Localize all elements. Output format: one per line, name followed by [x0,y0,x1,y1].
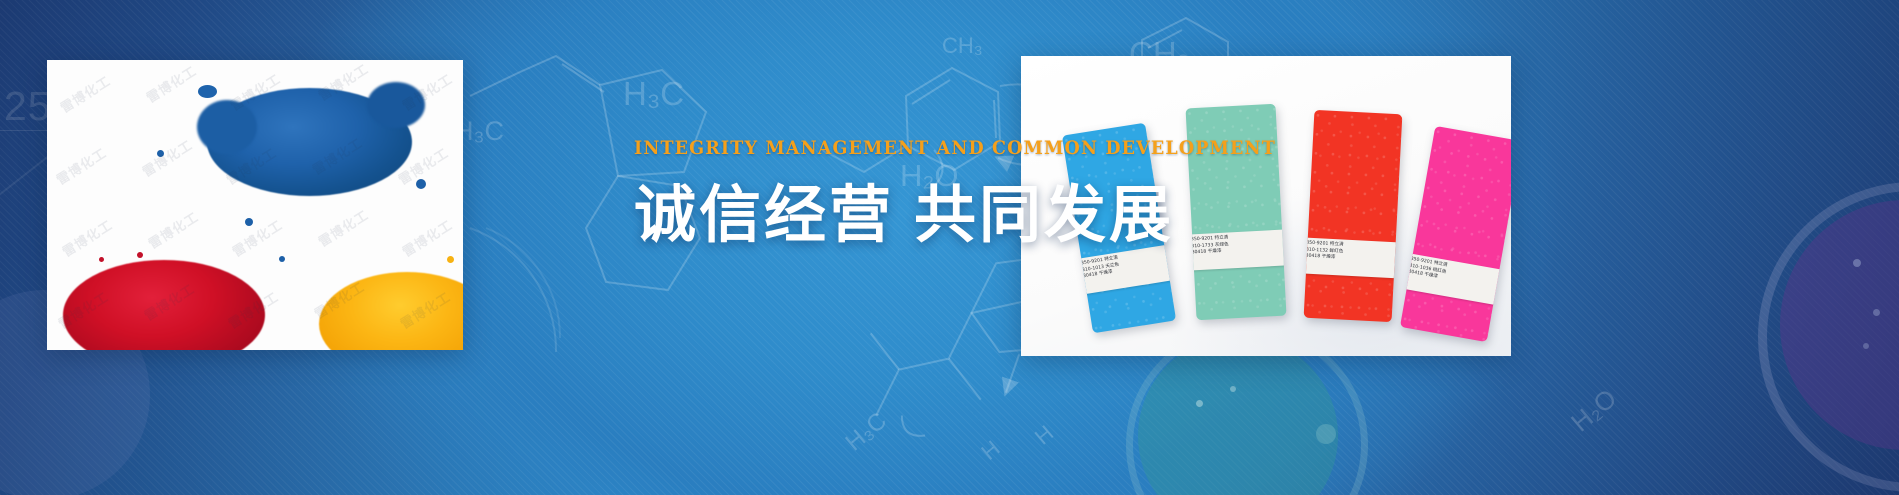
english-tagline: INTEGRITY MANAGEMENT AND COMMON DEVELOPM… [634,140,1026,159]
teal-bubble-small [1316,424,1336,444]
blue-speck [198,85,217,98]
chem-label-h3c-3: H₃C [840,407,891,456]
yellow-pigment-powder [319,272,463,350]
mint-green-sample-card: 350-9201 特立清 310-1733 灰绿色 80418 干燥漆 [1186,104,1287,320]
chem-label-h3c: H₃C [623,75,684,112]
blue-pigment-powder-edge2 [367,82,425,128]
chem-label-ch3-2: CH₃ [942,33,983,58]
chem-label-h2o-2: H₂O [1565,383,1622,438]
teal-blob-dot-2 [1230,386,1236,392]
teal-blob-dot-1 [1196,400,1203,407]
card-label-band: 350-9201 特立清 310-1132 鲜红色 80418 干燥漆 [1304,237,1403,279]
blue-speck [245,218,253,226]
red-speck [99,257,104,262]
blue-speck [416,179,426,189]
card-texture [1304,110,1403,322]
chem-label-h-1: H [976,435,1004,464]
blue-speck [157,150,164,157]
banner-copy-block: INTEGRITY MANAGEMENT AND COMMON DEVELOPM… [634,140,1026,247]
headline-part-1: 诚信经营 [634,178,894,251]
yellow-speck [447,256,454,263]
red-pigment-powder [63,260,265,350]
blue-speck [279,256,285,262]
chem-label-h-2: H [1030,420,1058,449]
purple-blob-dot-2 [1873,309,1880,316]
chinese-headline: 诚信经营共同发展 [634,182,1026,248]
promo-banner: 250 [0,0,1899,495]
card-label-band: 350-9201 特立清 310-1733 灰绿色 80418 干燥漆 [1187,229,1287,271]
red-sample-card: 350-9201 特立清 310-1132 鲜红色 80418 干燥漆 [1304,110,1403,322]
card-texture [1186,104,1287,320]
headline-part-2: 共同发展 [914,178,1174,251]
purple-blob-dot-1 [1853,259,1861,267]
blue-pigment-powder-edge [197,100,257,154]
purple-blob-dot-3 [1863,343,1869,349]
pigment-powder-photo[interactable]: 雷博化工 雷博化工 雷博化工 雷博化工 雷博化工 雷博化工 雷博化工 雷博化工 … [47,60,463,350]
red-speck [137,252,143,258]
